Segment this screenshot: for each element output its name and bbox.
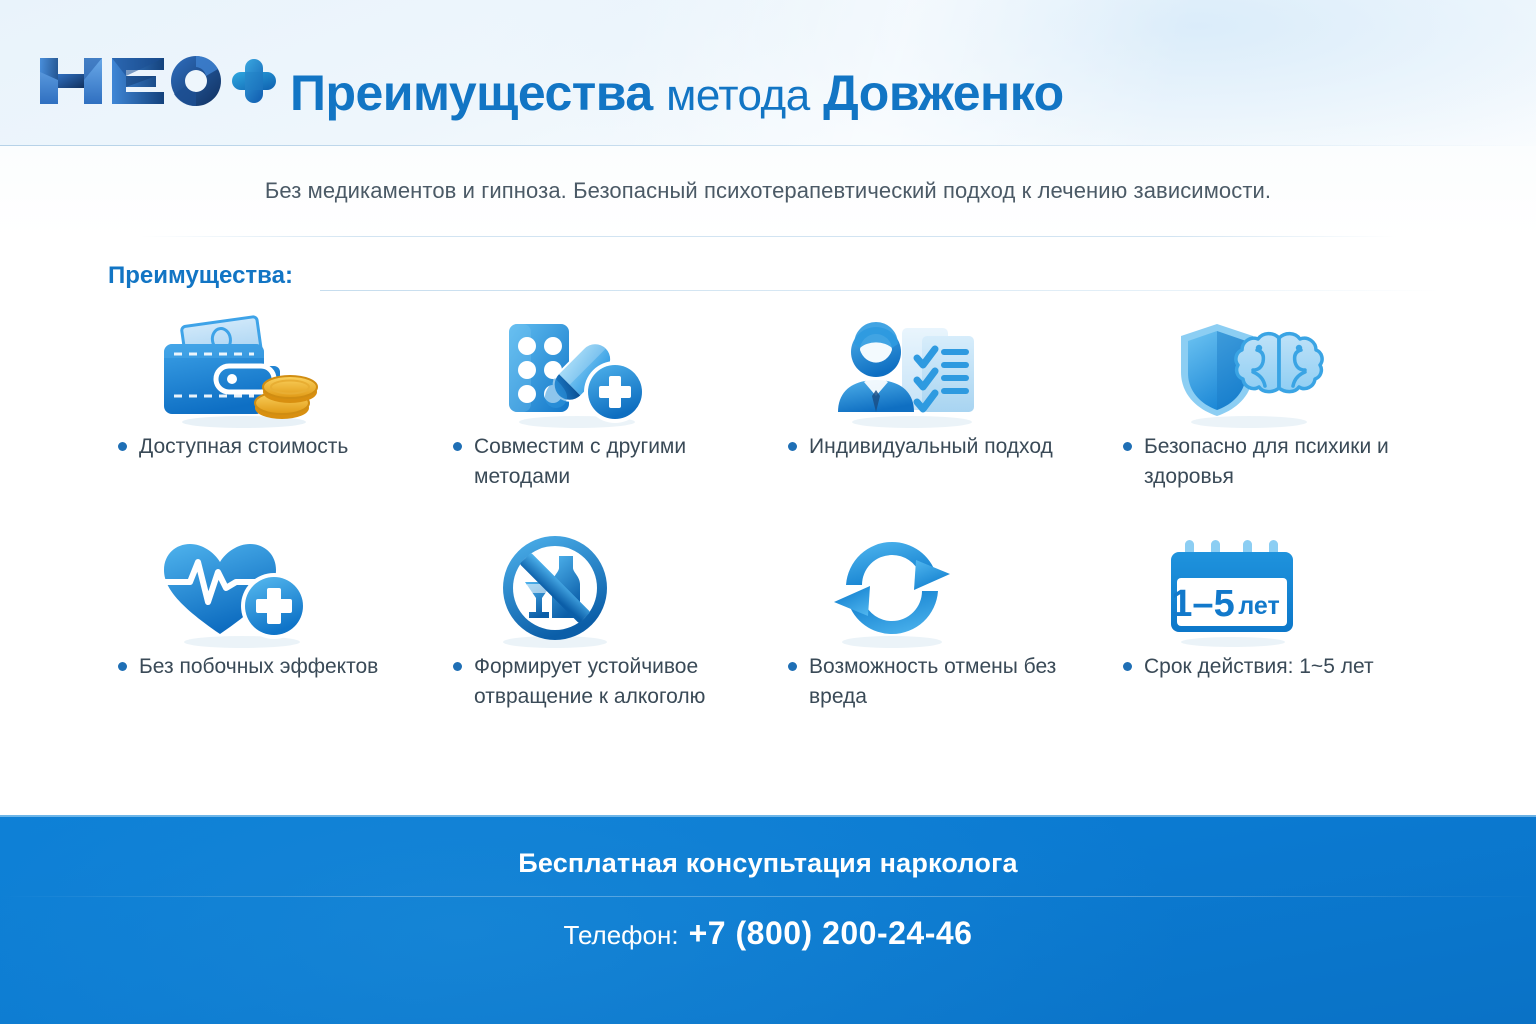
benefit-item: Без побочных эффектов — [100, 532, 435, 752]
benefit-label: Доступная стоимость — [139, 432, 348, 462]
benefit-label: Срок действия: 1~5 лет — [1144, 652, 1374, 682]
subtitle-text: Без медикаментов и гипноза. Безопасный п… — [0, 178, 1536, 204]
section-heading: Преимущества: — [108, 262, 293, 290]
benefit-label-row: Без побочных эффектов — [100, 652, 435, 682]
benefit-label-row: Срок действия: 1~5 лет — [1105, 652, 1440, 682]
bullet-dot-icon — [788, 442, 797, 451]
benefit-label-row: Совместим с другими методами — [435, 432, 770, 492]
bullet-dot-icon — [118, 662, 127, 671]
benefit-label: Совместим с другими методами — [474, 432, 736, 492]
benefit-item: Доступная стоимость — [100, 312, 435, 532]
section-heading-rule — [320, 290, 1440, 291]
benefit-label: Индивидуальный подход — [809, 432, 1053, 462]
phone-number[interactable]: +7 (800) 200-24-46 — [689, 915, 973, 951]
page-title: Преимущества метода Довженко — [290, 58, 1064, 128]
wallet-coins-icon — [100, 312, 435, 432]
benefit-label-row: Доступная стоимость — [100, 432, 435, 462]
benefit-item: Возможность отмены без вреда — [770, 532, 1105, 752]
subtitle-divider — [140, 236, 1396, 237]
benefit-label: Безопасно для психики и здоровья — [1144, 432, 1406, 492]
neo-plus-logo-icon — [36, 50, 276, 112]
benefit-label-row: Формирует устойчивое отвращение к алкого… — [435, 652, 770, 712]
calendar-icon: 1–5 лет — [1105, 532, 1440, 652]
bullet-dot-icon — [788, 662, 797, 671]
benefit-item: 1–5 лет Срок действия: 1~5 лет — [1105, 532, 1440, 752]
title-bold-first: Преимущества — [290, 65, 653, 121]
benefit-label: Формирует устойчивое отвращение к алкого… — [474, 652, 736, 712]
benefit-label: Без побочных эффектов — [139, 652, 378, 682]
benefit-item: Совместим с другими методами — [435, 312, 770, 532]
benefit-label-row: Индивидуальный подход — [770, 432, 1105, 462]
no-alcohol-icon — [435, 532, 770, 652]
title-regular: метода — [666, 71, 810, 120]
benefit-item: Формирует устойчивое отвращение к алкого… — [435, 532, 770, 752]
infographic-poster: Преимущества метода Довженко Без медикам… — [0, 0, 1536, 1024]
benefit-label-row: Безопасно для психики и здоровья — [1105, 432, 1440, 492]
benefit-item: Индивидуальный подход — [770, 312, 1105, 532]
pills-capsule-plus-icon — [435, 312, 770, 432]
bullet-dot-icon — [1123, 662, 1132, 671]
benefit-item: Безопасно для психики и здоровья — [1105, 312, 1440, 532]
footer-divider — [0, 896, 1536, 897]
benefit-label: Возможность отмены без вреда — [809, 652, 1071, 712]
bullet-dot-icon — [118, 442, 127, 451]
footer-cta-title: Бесплатная консупьтация нарколога — [0, 848, 1536, 879]
title-bold-second: Довженко — [823, 65, 1064, 121]
bullet-dot-icon — [453, 442, 462, 451]
bullet-dot-icon — [1123, 442, 1132, 451]
shield-brain-icon — [1105, 312, 1440, 432]
calendar-number: 1–5 — [1171, 583, 1234, 625]
calendar-unit: лет — [1238, 592, 1279, 620]
doctor-checklist-icon — [770, 312, 1105, 432]
benefit-label-row: Возможность отмены без вреда — [770, 652, 1105, 712]
heart-pulse-plus-icon — [100, 532, 435, 652]
refresh-arrows-icon — [770, 532, 1105, 652]
bullet-dot-icon — [453, 662, 462, 671]
benefits-grid: Доступная стоимость — [100, 312, 1440, 752]
footer-phone-row: Телефон:+7 (800) 200-24-46 — [0, 915, 1536, 952]
phone-label: Телефон: — [564, 920, 679, 950]
footer-top-edge — [0, 815, 1536, 817]
